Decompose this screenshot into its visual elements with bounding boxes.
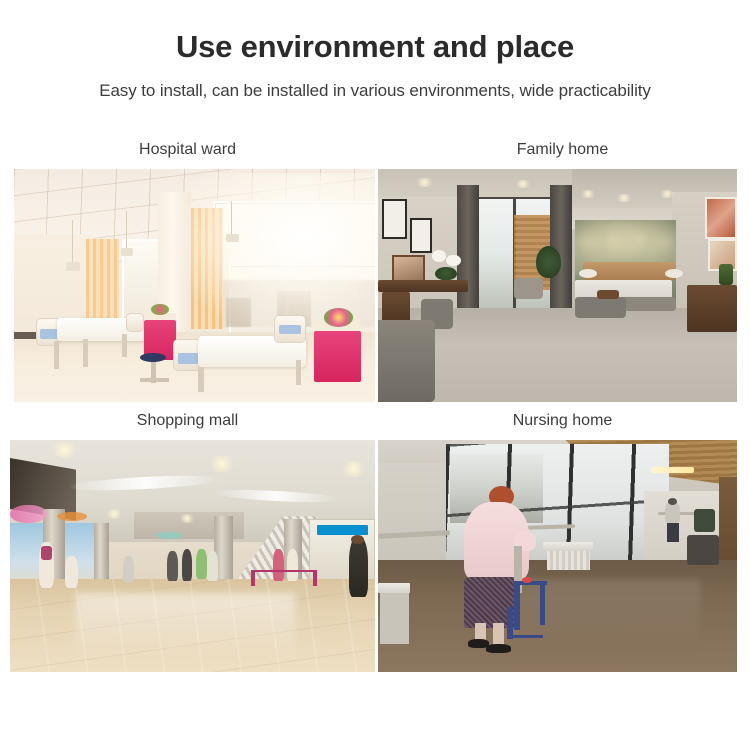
cell-label-nursing-home: Nursing home [375,402,750,440]
grid-row: Shopping mall [0,402,750,672]
page-title: Use environment and place [0,0,750,65]
photo-shopping-mall [10,440,375,672]
environment-grid: Hospital ward [0,131,750,672]
grid-cell-hospital-ward: Hospital ward [0,131,375,402]
grid-cell-shopping-mall: Shopping mall [0,402,375,672]
grid-row: Hospital ward [0,131,750,402]
photo-hospital-ward [14,169,375,402]
grid-cell-nursing-home: Nursing home [375,402,750,672]
photo-nursing-home [378,440,737,672]
page-subtitle: Easy to install, can be installed in var… [0,65,750,101]
grid-cell-family-home: Family home [375,131,750,402]
cell-label-family-home: Family home [375,131,750,169]
product-feature-page: Use environment and place Easy to instal… [0,0,750,750]
photo-family-home [378,169,737,402]
cell-label-hospital-ward: Hospital ward [0,131,375,169]
cell-label-shopping-mall: Shopping mall [0,402,375,440]
